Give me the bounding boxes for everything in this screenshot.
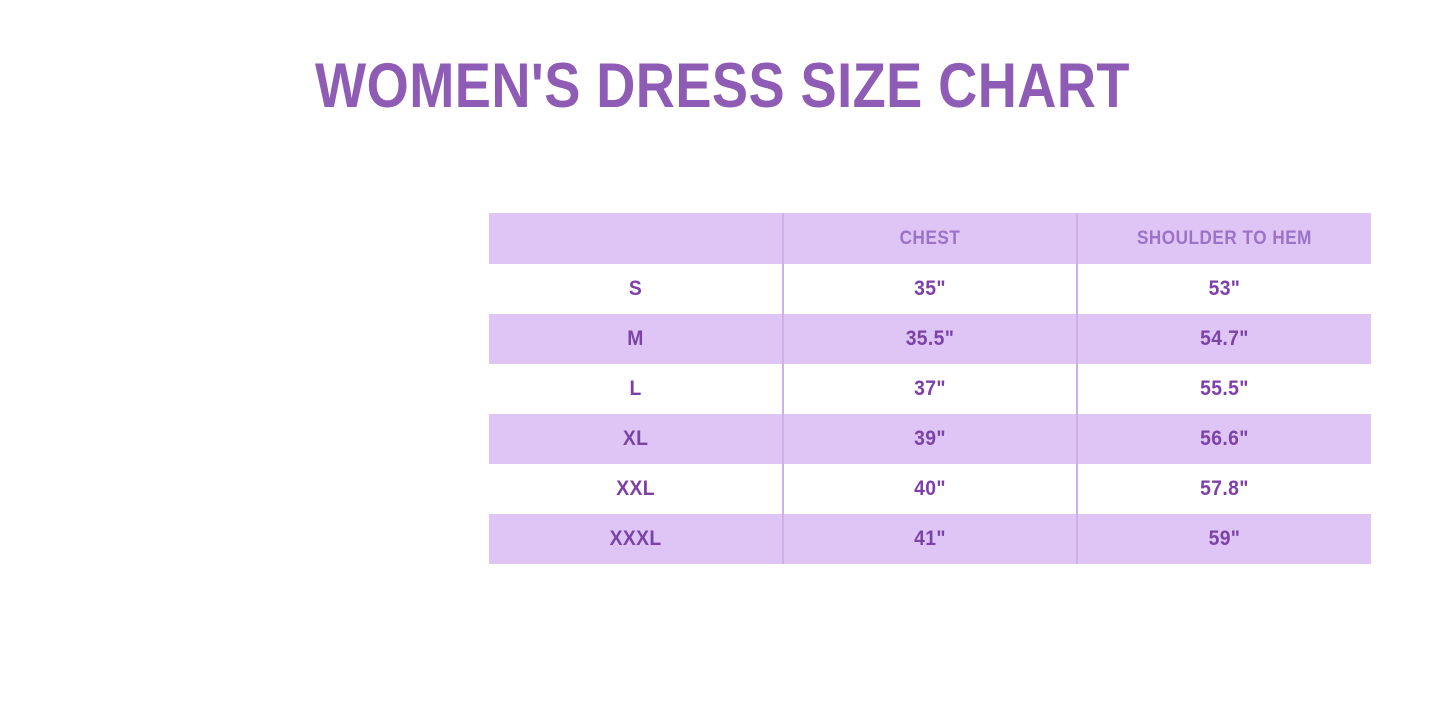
table-header: CHEST SHOULDER TO HEM bbox=[489, 214, 1371, 265]
cell-shoulder-to-hem: 54.7" bbox=[1089, 314, 1359, 364]
cell-size: L bbox=[501, 364, 771, 414]
cell-chest: 37" bbox=[795, 364, 1065, 414]
cell-shoulder-to-hem: 59" bbox=[1089, 514, 1359, 564]
cell-shoulder-to-hem: 55.5" bbox=[1089, 364, 1359, 414]
cell-size: XXL bbox=[501, 464, 771, 514]
cell-chest: 35" bbox=[795, 264, 1065, 314]
table-row: S 35" 53" bbox=[489, 264, 1371, 314]
size-chart-table: CHEST SHOULDER TO HEM S 35" 53" M 35.5" … bbox=[489, 213, 1371, 564]
cell-shoulder-to-hem: 53" bbox=[1089, 264, 1359, 314]
cell-size: XXXL bbox=[501, 514, 771, 564]
table-body: S 35" 53" M 35.5" 54.7" L 37" 55.5" XL 3… bbox=[489, 264, 1371, 564]
size-chart-table-container: CHEST SHOULDER TO HEM S 35" 53" M 35.5" … bbox=[489, 213, 1371, 564]
page-title: WOMEN'S DRESS SIZE CHART bbox=[101, 52, 1344, 121]
table-row: L 37" 55.5" bbox=[489, 364, 1371, 414]
cell-shoulder-to-hem: 57.8" bbox=[1089, 464, 1359, 514]
cell-chest: 35.5" bbox=[795, 314, 1065, 364]
cell-size: XL bbox=[501, 414, 771, 464]
column-header-chest: CHEST bbox=[798, 214, 1063, 265]
cell-chest: 39" bbox=[795, 414, 1065, 464]
cell-chest: 40" bbox=[795, 464, 1065, 514]
column-header-shoulder-to-hem: SHOULDER TO HEM bbox=[1092, 214, 1357, 265]
table-row: XL 39" 56.6" bbox=[489, 414, 1371, 464]
cell-chest: 41" bbox=[795, 514, 1065, 564]
table-row: XXXL 41" 59" bbox=[489, 514, 1371, 564]
cell-size: S bbox=[501, 264, 771, 314]
cell-shoulder-to-hem: 56.6" bbox=[1089, 414, 1359, 464]
size-chart-page: WOMEN'S DRESS SIZE CHART CHEST SHOULDER … bbox=[0, 0, 1445, 723]
table-header-row: CHEST SHOULDER TO HEM bbox=[489, 214, 1371, 265]
table-row: XXL 40" 57.8" bbox=[489, 464, 1371, 514]
table-row: M 35.5" 54.7" bbox=[489, 314, 1371, 364]
column-header-size bbox=[504, 214, 769, 265]
cell-size: M bbox=[501, 314, 771, 364]
